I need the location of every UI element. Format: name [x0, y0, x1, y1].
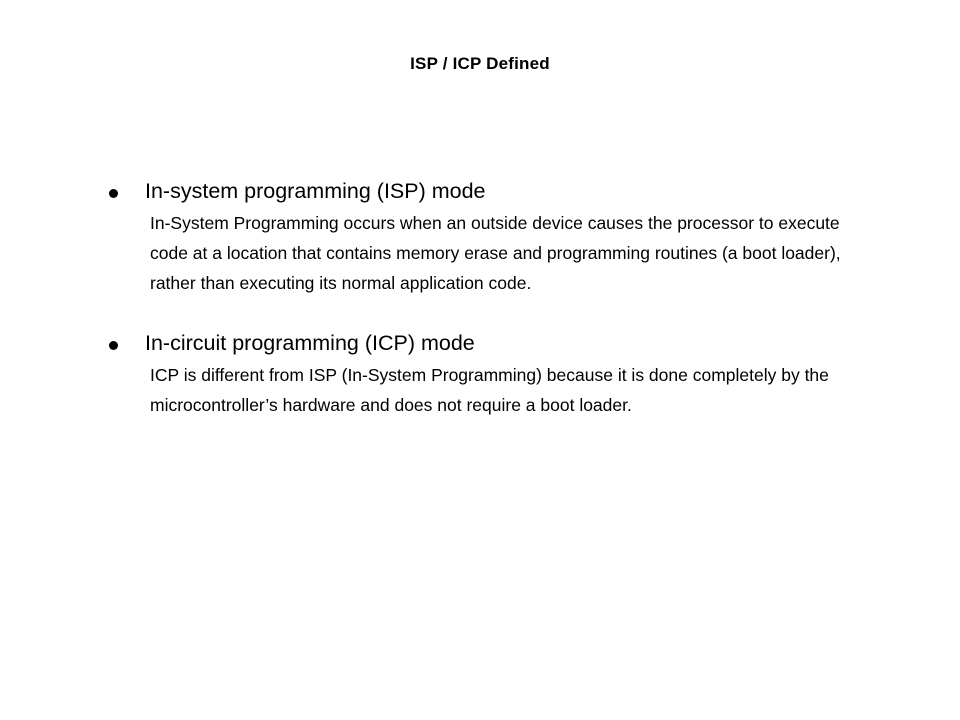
filled-circle-bullet-icon [109, 189, 118, 198]
bullet-item-isp: In-system programming (ISP) mode [104, 176, 884, 207]
bullet-block-isp: In-system programming (ISP) mode In-Syst… [104, 176, 884, 298]
bullet-heading-isp: In-system programming (ISP) mode [145, 179, 486, 203]
slide-canvas: ISP / ICP Defined In-system programming … [0, 0, 960, 720]
bullet-heading-icp: In-circuit programming (ICP) mode [145, 331, 475, 355]
bullet-body-icp: ICP is different from ISP (In-System Pro… [104, 360, 860, 420]
bullet-item-icp: In-circuit programming (ICP) mode [104, 328, 884, 359]
bullet-block-icp: In-circuit programming (ICP) mode ICP is… [104, 328, 884, 420]
slide-body: In-system programming (ISP) mode In-Syst… [104, 176, 884, 420]
filled-circle-bullet-icon [109, 341, 118, 350]
bullet-body-isp: In-System Programming occurs when an out… [104, 208, 860, 298]
page-title: ISP / ICP Defined [0, 54, 960, 74]
